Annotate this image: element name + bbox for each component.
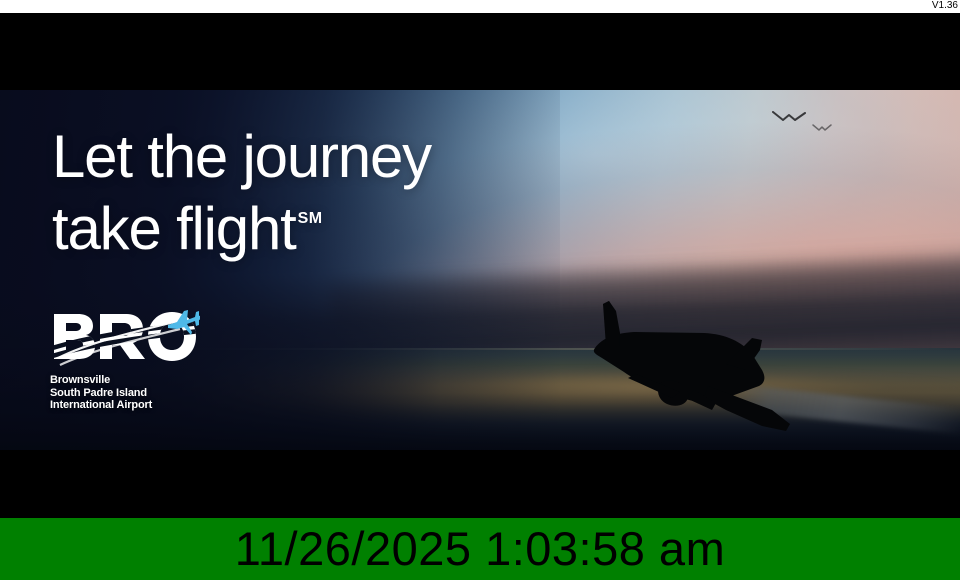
version-label: V1.36 (932, 0, 958, 12)
logo-subtext-line-3: International Airport (50, 399, 200, 412)
airport-logo: Brownsville South Padre Island Internati… (50, 308, 200, 418)
display-screen: V1.36 (0, 0, 960, 580)
logo-subtext-line-1: Brownsville (50, 374, 200, 387)
tagline-line-1: Let the journey (52, 126, 431, 188)
letterbox-top (0, 13, 960, 90)
tagline-line-2-text: take flight (52, 195, 296, 262)
logo-wordmark-bro (50, 308, 200, 370)
clock-bar: 11/26/2025 1:03:58 am (0, 518, 960, 580)
service-mark: SM (298, 210, 323, 227)
clock-datetime: 11/26/2025 1:03:58 am (235, 524, 725, 574)
airplane-silhouette-icon (576, 286, 816, 446)
bird-icon (772, 111, 806, 124)
tagline-line-2: take flightSM (52, 188, 431, 260)
hero-banner: Let the journey take flightSM (0, 90, 960, 450)
logo-subtext: Brownsville South Padre Island Internati… (50, 374, 200, 412)
logo-subtext-line-2: South Padre Island (50, 387, 200, 400)
letterbox-bottom (0, 450, 960, 518)
version-strip: V1.36 (0, 0, 960, 13)
tagline: Let the journey take flightSM (52, 126, 431, 260)
bird-icon-2 (812, 124, 832, 132)
